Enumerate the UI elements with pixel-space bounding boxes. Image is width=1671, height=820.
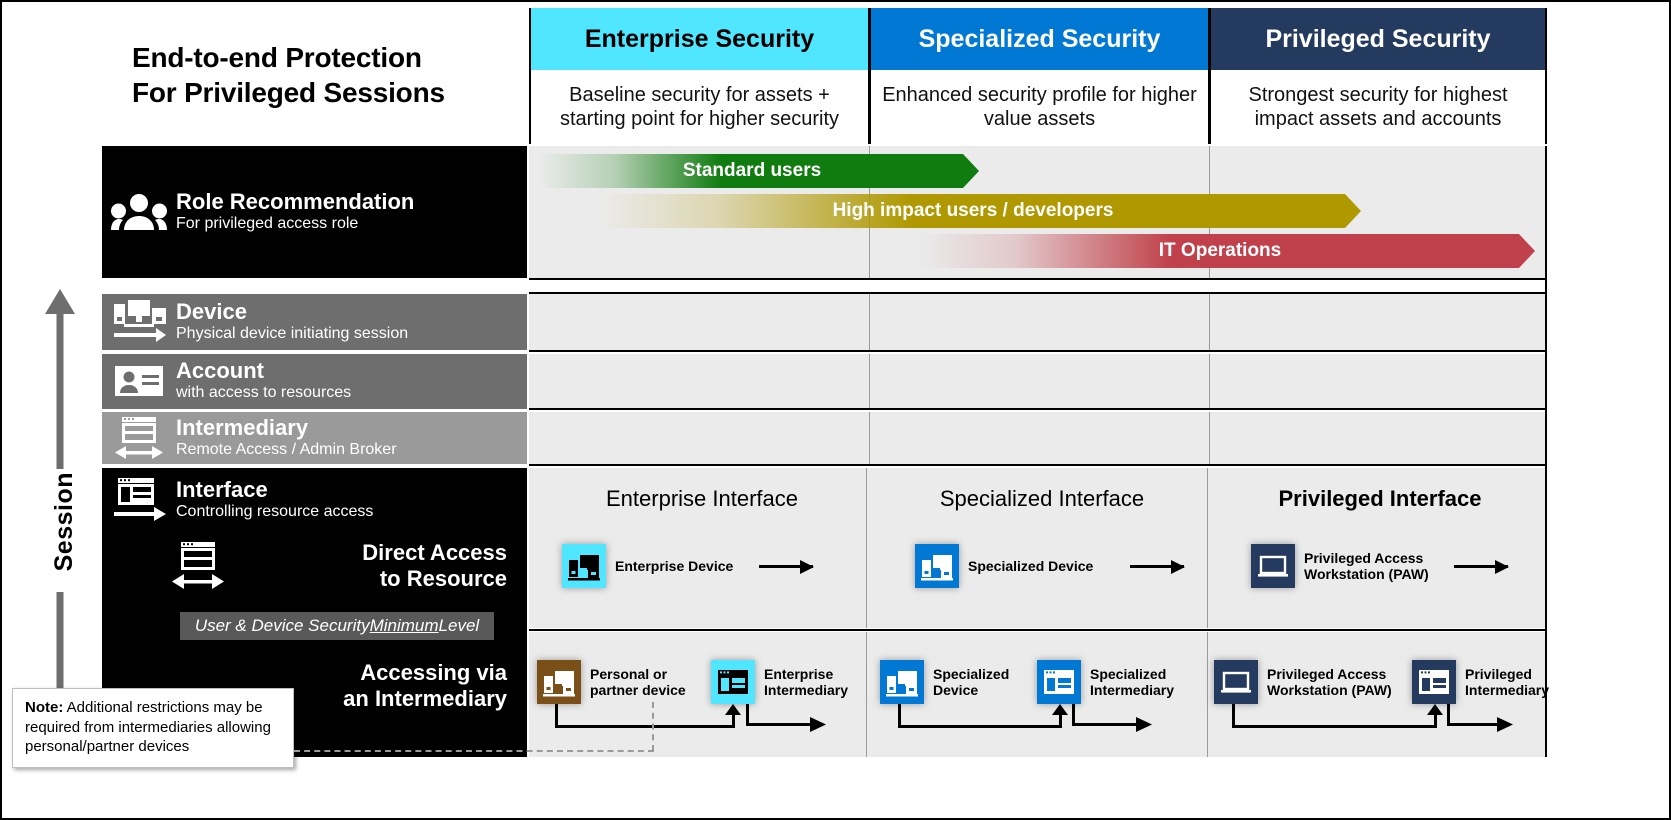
direct-access-window-icon: [170, 540, 224, 597]
node-privileged-intermediary: Privileged Intermediary: [1412, 660, 1549, 704]
connector-line: [746, 704, 749, 725]
role-arrow-standard-users-label: Standard users: [539, 160, 979, 182]
grid-divider: [869, 354, 870, 409]
column-header-enterprise: Enterprise Security Baseline security fo…: [529, 8, 869, 144]
laptop-icon: [1214, 660, 1258, 704]
device-icon: [915, 544, 959, 588]
column-subtitle-enterprise: Baseline security for assets + starting …: [531, 70, 868, 144]
node-enterprise-device-label: Enterprise Device: [615, 558, 733, 574]
role-arrow-standard-users: Standard users: [539, 154, 979, 188]
interface-heading-enterprise: Enterprise Interface: [542, 486, 862, 512]
connector-line: [1059, 715, 1062, 728]
node-personal-device-label: Personal or partner device: [590, 666, 686, 698]
connector-line: [1232, 725, 1437, 728]
intermediary-icon: [1037, 660, 1081, 704]
row-divider: [529, 278, 1547, 280]
role-arrow-high-impact: High impact users / developers: [599, 194, 1361, 228]
grid-divider: [869, 412, 870, 464]
interface-heading-specialized: Specialized Interface: [882, 486, 1202, 512]
connector-line: [1447, 723, 1503, 726]
minimum-level-emphasis: Minimum: [370, 616, 439, 636]
row-divider: [529, 629, 1547, 631]
note-dashed-connector: [294, 750, 654, 752]
stage-subtitle-role-recommendation: For privileged access role: [176, 215, 414, 233]
cell-account: [529, 354, 1547, 409]
stage-title-account: Account: [176, 359, 351, 382]
page-title-line2: For Privileged Sessions: [132, 75, 445, 110]
grid-divider: [1209, 294, 1210, 350]
node-specialized-intermediary-label: Specialized Intermediary: [1090, 666, 1174, 698]
node-enterprise-intermediary: Enterprise Intermediary: [711, 660, 848, 704]
node-label-line1: Personal or: [590, 666, 686, 682]
arrow-enterprise-to-resource: [759, 565, 813, 568]
grid-divider: [1209, 354, 1210, 409]
page-title: End-to-end Protection For Privileged Ses…: [132, 40, 445, 110]
node-privileged-paw-bottom: Privileged Access Workstation (PAW): [1214, 660, 1392, 704]
grid-divider: [869, 294, 870, 350]
connector-arrowhead-right-icon: [810, 715, 830, 735]
node-privileged-paw: Privileged Access Workstation (PAW): [1251, 544, 1429, 588]
grid-divider: [866, 468, 867, 628]
stage-subtitle-interface: Controlling resource access: [176, 503, 373, 521]
stage-role-recommendation-content: Role Recommendation For privileged acces…: [102, 172, 527, 252]
node-enterprise-intermediary-label: Enterprise Intermediary: [764, 666, 848, 698]
column-subtitle-privileged: Strongest security for highest impact as…: [1211, 70, 1545, 144]
node-personal-device: Personal or partner device: [537, 660, 686, 704]
device-icon: [880, 660, 924, 704]
grid-divider: [1207, 468, 1208, 628]
row-divider: [529, 292, 1547, 294]
connector-line: [732, 715, 735, 728]
via-intermediary-label: Accessing via an Intermediary: [257, 660, 507, 713]
node-label-line1: Specialized Device: [968, 558, 1093, 574]
column-title-privileged: Privileged Security: [1211, 8, 1545, 70]
cell-intermediary: [529, 412, 1547, 464]
connector-arrowhead-up-icon: [1427, 704, 1443, 715]
node-label-line2: Workstation (PAW): [1304, 566, 1429, 582]
column-header-privileged: Privileged Security Strongest security f…: [1209, 8, 1547, 144]
connector-line: [1447, 704, 1450, 725]
direct-access-line2: to Resource: [257, 566, 507, 592]
stage-title-interface: Interface: [176, 478, 373, 501]
connector-arrowhead-right-icon: [1497, 715, 1517, 735]
node-label-line1: Privileged Access: [1267, 666, 1392, 682]
stage-intermediary-content: Intermediary Remote Access / Admin Broke…: [102, 414, 527, 462]
stage-subtitle-device: Physical device initiating session: [176, 325, 408, 343]
connector-arrowhead-up-icon: [1052, 704, 1068, 715]
node-label-line1: Enterprise: [764, 666, 848, 682]
stage-title-device: Device: [176, 300, 408, 323]
node-privileged-intermediary-label: Privileged Intermediary: [1465, 666, 1549, 698]
grid-divider: [1207, 632, 1208, 757]
connector-line: [1072, 723, 1142, 726]
session-axis-label: Session: [50, 472, 79, 571]
column-subtitle-specialized: Enhanced security profile for higher val…: [871, 70, 1208, 144]
stage-interface-content: Interface Controlling resource access: [102, 474, 527, 526]
node-specialized-device-bottom-label: Specialized Device: [933, 666, 1009, 698]
node-label-line2: Intermediary: [1465, 682, 1549, 698]
diagram-root: End-to-end Protection For Privileged Ses…: [0, 0, 1671, 820]
via-intermediary-line1: Accessing via: [257, 660, 507, 686]
node-label-line1: Specialized: [933, 666, 1009, 682]
node-label-line2: partner device: [590, 682, 686, 698]
grid-divider: [866, 632, 867, 757]
session-arrow-up-icon: [42, 287, 78, 472]
connector-line: [1434, 715, 1437, 728]
row-divider: [529, 350, 1547, 352]
node-label-line1: Privileged Access: [1304, 550, 1429, 566]
minimum-level-suffix: Level: [439, 616, 480, 636]
arrow-privileged-to-resource: [1454, 565, 1508, 568]
note-box: Note: Additional restrictions may be req…: [12, 688, 294, 768]
connector-line: [555, 725, 735, 728]
stage-subtitle-intermediary: Remote Access / Admin Broker: [176, 441, 397, 459]
laptop-icon: [1251, 544, 1295, 588]
intermediary-icon: [711, 660, 755, 704]
connector-arrowhead-up-icon: [725, 704, 741, 715]
connector-line: [1072, 704, 1075, 725]
note-prefix: Note:: [25, 699, 63, 716]
node-label-line2: Workstation (PAW): [1267, 682, 1392, 698]
account-card-icon: [102, 364, 176, 398]
node-label-line1: Enterprise Device: [615, 558, 733, 574]
stage-device-content: Device Physical device initiating sessio…: [102, 298, 527, 346]
via-intermediary-line2: an Intermediary: [257, 686, 507, 712]
stage-subtitle-account: with access to resources: [176, 384, 351, 402]
node-label-line2: Device: [933, 682, 1009, 698]
role-arrow-it-operations-label: IT Operations: [919, 240, 1535, 262]
cell-device: [529, 294, 1547, 350]
interface-heading-privileged: Privileged Interface: [1220, 486, 1540, 512]
stage-account-content: Account with access to resources: [102, 357, 527, 405]
connector-line: [746, 723, 816, 726]
node-privileged-paw-label: Privileged Access Workstation (PAW): [1304, 550, 1429, 582]
grid-divider: [1209, 412, 1210, 464]
role-arrow-high-impact-label: High impact users / developers: [599, 200, 1361, 222]
direct-access-line1: Direct Access: [257, 540, 507, 566]
node-specialized-device-bottom: Specialized Device: [880, 660, 1009, 704]
column-header-specialized: Specialized Security Enhanced security p…: [869, 8, 1209, 144]
node-label-line2: Intermediary: [764, 682, 848, 698]
connector-line: [898, 725, 1062, 728]
page-title-line1: End-to-end Protection: [132, 40, 445, 75]
device-arrow-icon: [102, 300, 176, 344]
arrow-specialized-to-resource: [1130, 565, 1184, 568]
device-icon: [537, 660, 581, 704]
node-enterprise-device: Enterprise Device: [562, 544, 733, 588]
node-label-line2: Intermediary: [1090, 682, 1174, 698]
note-dashed-connector-vertical: [652, 702, 654, 751]
role-arrow-it-operations: IT Operations: [919, 234, 1535, 268]
node-specialized-intermediary: Specialized Intermediary: [1037, 660, 1174, 704]
intermediary-window-icon: [102, 415, 176, 461]
people-icon: [102, 194, 176, 230]
device-icon: [562, 544, 606, 588]
interface-window-arrow-icon: [102, 477, 176, 523]
row-divider: [529, 408, 1547, 410]
node-label-line1: Specialized: [1090, 666, 1174, 682]
node-specialized-device: Specialized Device: [915, 544, 1093, 588]
node-privileged-paw-bottom-label: Privileged Access Workstation (PAW): [1267, 666, 1392, 698]
minimum-level-badge: User & Device Security Minimum Level: [180, 612, 494, 640]
direct-access-label: Direct Access to Resource: [257, 540, 507, 593]
node-specialized-device-label: Specialized Device: [968, 558, 1093, 574]
stage-title-role-recommendation: Role Recommendation: [176, 190, 414, 213]
column-title-specialized: Specialized Security: [871, 8, 1208, 70]
connector-arrowhead-right-icon: [1136, 715, 1156, 735]
row-divider: [529, 464, 1547, 466]
node-label-line1: Privileged: [1465, 666, 1549, 682]
minimum-level-prefix: User & Device Security: [195, 616, 370, 636]
intermediary-icon: [1412, 660, 1456, 704]
stage-title-intermediary: Intermediary: [176, 416, 397, 439]
column-title-enterprise: Enterprise Security: [531, 8, 868, 70]
